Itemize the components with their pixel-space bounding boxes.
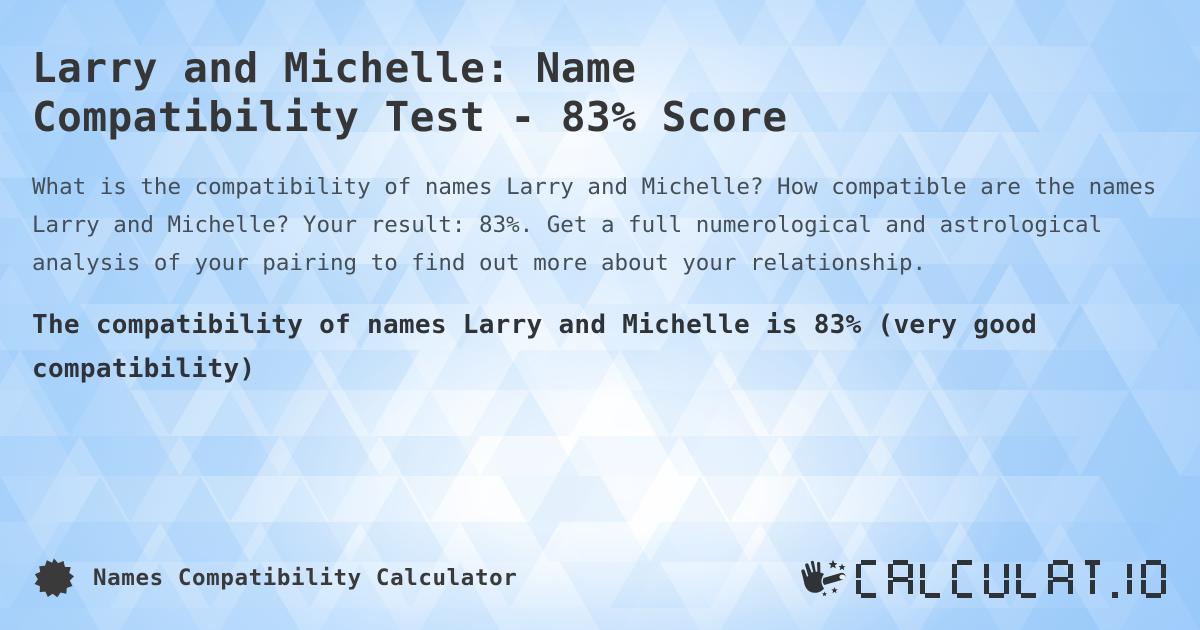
lcd-char-dot (1112, 592, 1118, 598)
lcd-char-i (1125, 560, 1134, 598)
calculatio-wordmark (856, 558, 1166, 598)
lcd-char-u (984, 560, 1009, 598)
page-description: What is the compatibility of names Larry… (32, 168, 1168, 282)
lcd-char-l2 (1016, 560, 1041, 598)
lcd-char-a2 (1048, 560, 1073, 598)
site-brand-label: Names Compatibility Calculator (93, 565, 517, 591)
hand-magic-wand-icon (796, 555, 852, 601)
lcd-char-o (1141, 560, 1166, 598)
site-brand[interactable]: Names Compatibility Calculator (34, 558, 517, 598)
calculatio-logo[interactable] (796, 555, 1166, 601)
lcd-char-c (856, 560, 881, 598)
page-title-line-2: Compatibility Test - 83% Score (32, 93, 788, 141)
page-title: Larry and Michelle: Name Compatibility T… (32, 44, 1032, 142)
lcd-char-t (1080, 560, 1105, 598)
card-content: Larry and Michelle: Name Compatibility T… (0, 0, 1200, 630)
card-footer: Names Compatibility Calculator (0, 550, 1200, 606)
og-image-card: Larry and Michelle: Name Compatibility T… (0, 0, 1200, 630)
starburst-badge-icon (34, 558, 74, 598)
page-title-line-1: Larry and Michelle: Name (32, 44, 636, 92)
lcd-char-c2 (952, 560, 977, 598)
lcd-char-l (920, 560, 945, 598)
compatibility-verdict: The compatibility of names Larry and Mic… (32, 303, 1162, 391)
lcd-char-a (888, 560, 913, 598)
